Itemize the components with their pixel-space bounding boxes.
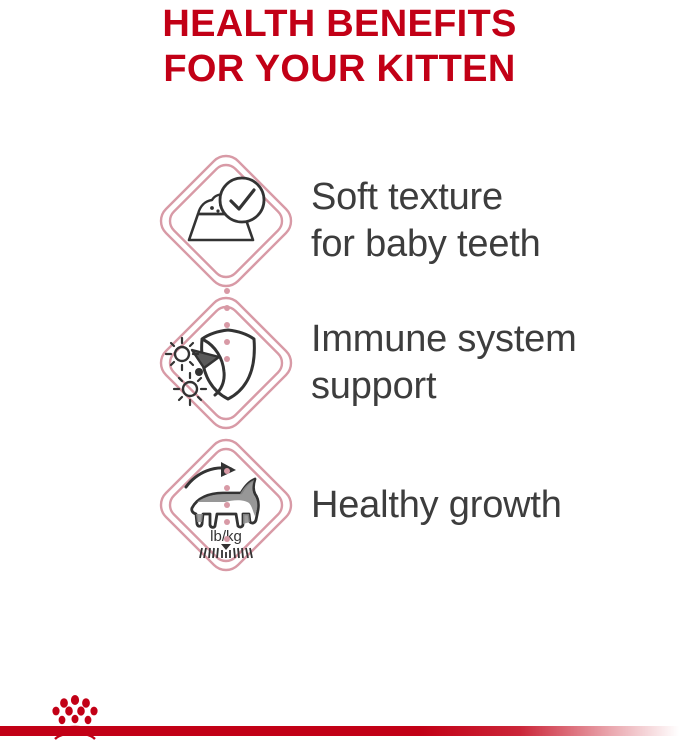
- connector-dot: [224, 502, 230, 508]
- connector-dot: [224, 339, 230, 345]
- benefit-label-line-1: Immune system: [311, 316, 577, 363]
- benefit-label-line-1: Soft texture: [311, 174, 541, 221]
- connector-dots-1: [224, 288, 230, 373]
- connector-dots-2: [224, 468, 230, 553]
- benefits-list: Soft texture for baby teeth: [0, 150, 679, 576]
- benefit-item-immune-system: Immune system support: [0, 292, 679, 434]
- page-title-line-1: HEALTH BENEFITS: [0, 2, 679, 47]
- connector-dot: [224, 468, 230, 474]
- benefit-label-immune-system: Immune system support: [311, 316, 577, 410]
- connector-dot: [224, 288, 230, 294]
- benefit-item-soft-texture: Soft texture for baby teeth: [0, 150, 679, 292]
- brand-bar-left-segment: [0, 726, 46, 736]
- page-title: HEALTH BENEFITS FOR YOUR KITTEN: [0, 2, 679, 92]
- benefit-label-line-2: for baby teeth: [311, 221, 541, 268]
- connector-dot: [224, 356, 230, 362]
- connector-dot: [224, 536, 230, 542]
- royal-canin-crown-logo: [45, 694, 105, 740]
- connector-dot: [224, 322, 230, 328]
- connector-dot: [224, 305, 230, 311]
- benefit-label-soft-texture: Soft texture for baby teeth: [311, 174, 541, 268]
- benefit-label-line-2: support: [311, 363, 577, 410]
- benefit-item-healthy-growth: lb/kg: [0, 434, 679, 576]
- benefit-label-line-1: Healthy growth: [311, 482, 562, 529]
- food-bowl-check-icon: [157, 152, 295, 290]
- page-title-line-2: FOR YOUR KITTEN: [0, 47, 679, 92]
- connector-dot: [224, 519, 230, 525]
- benefit-label-healthy-growth: Healthy growth: [311, 482, 562, 529]
- connector-dot: [224, 485, 230, 491]
